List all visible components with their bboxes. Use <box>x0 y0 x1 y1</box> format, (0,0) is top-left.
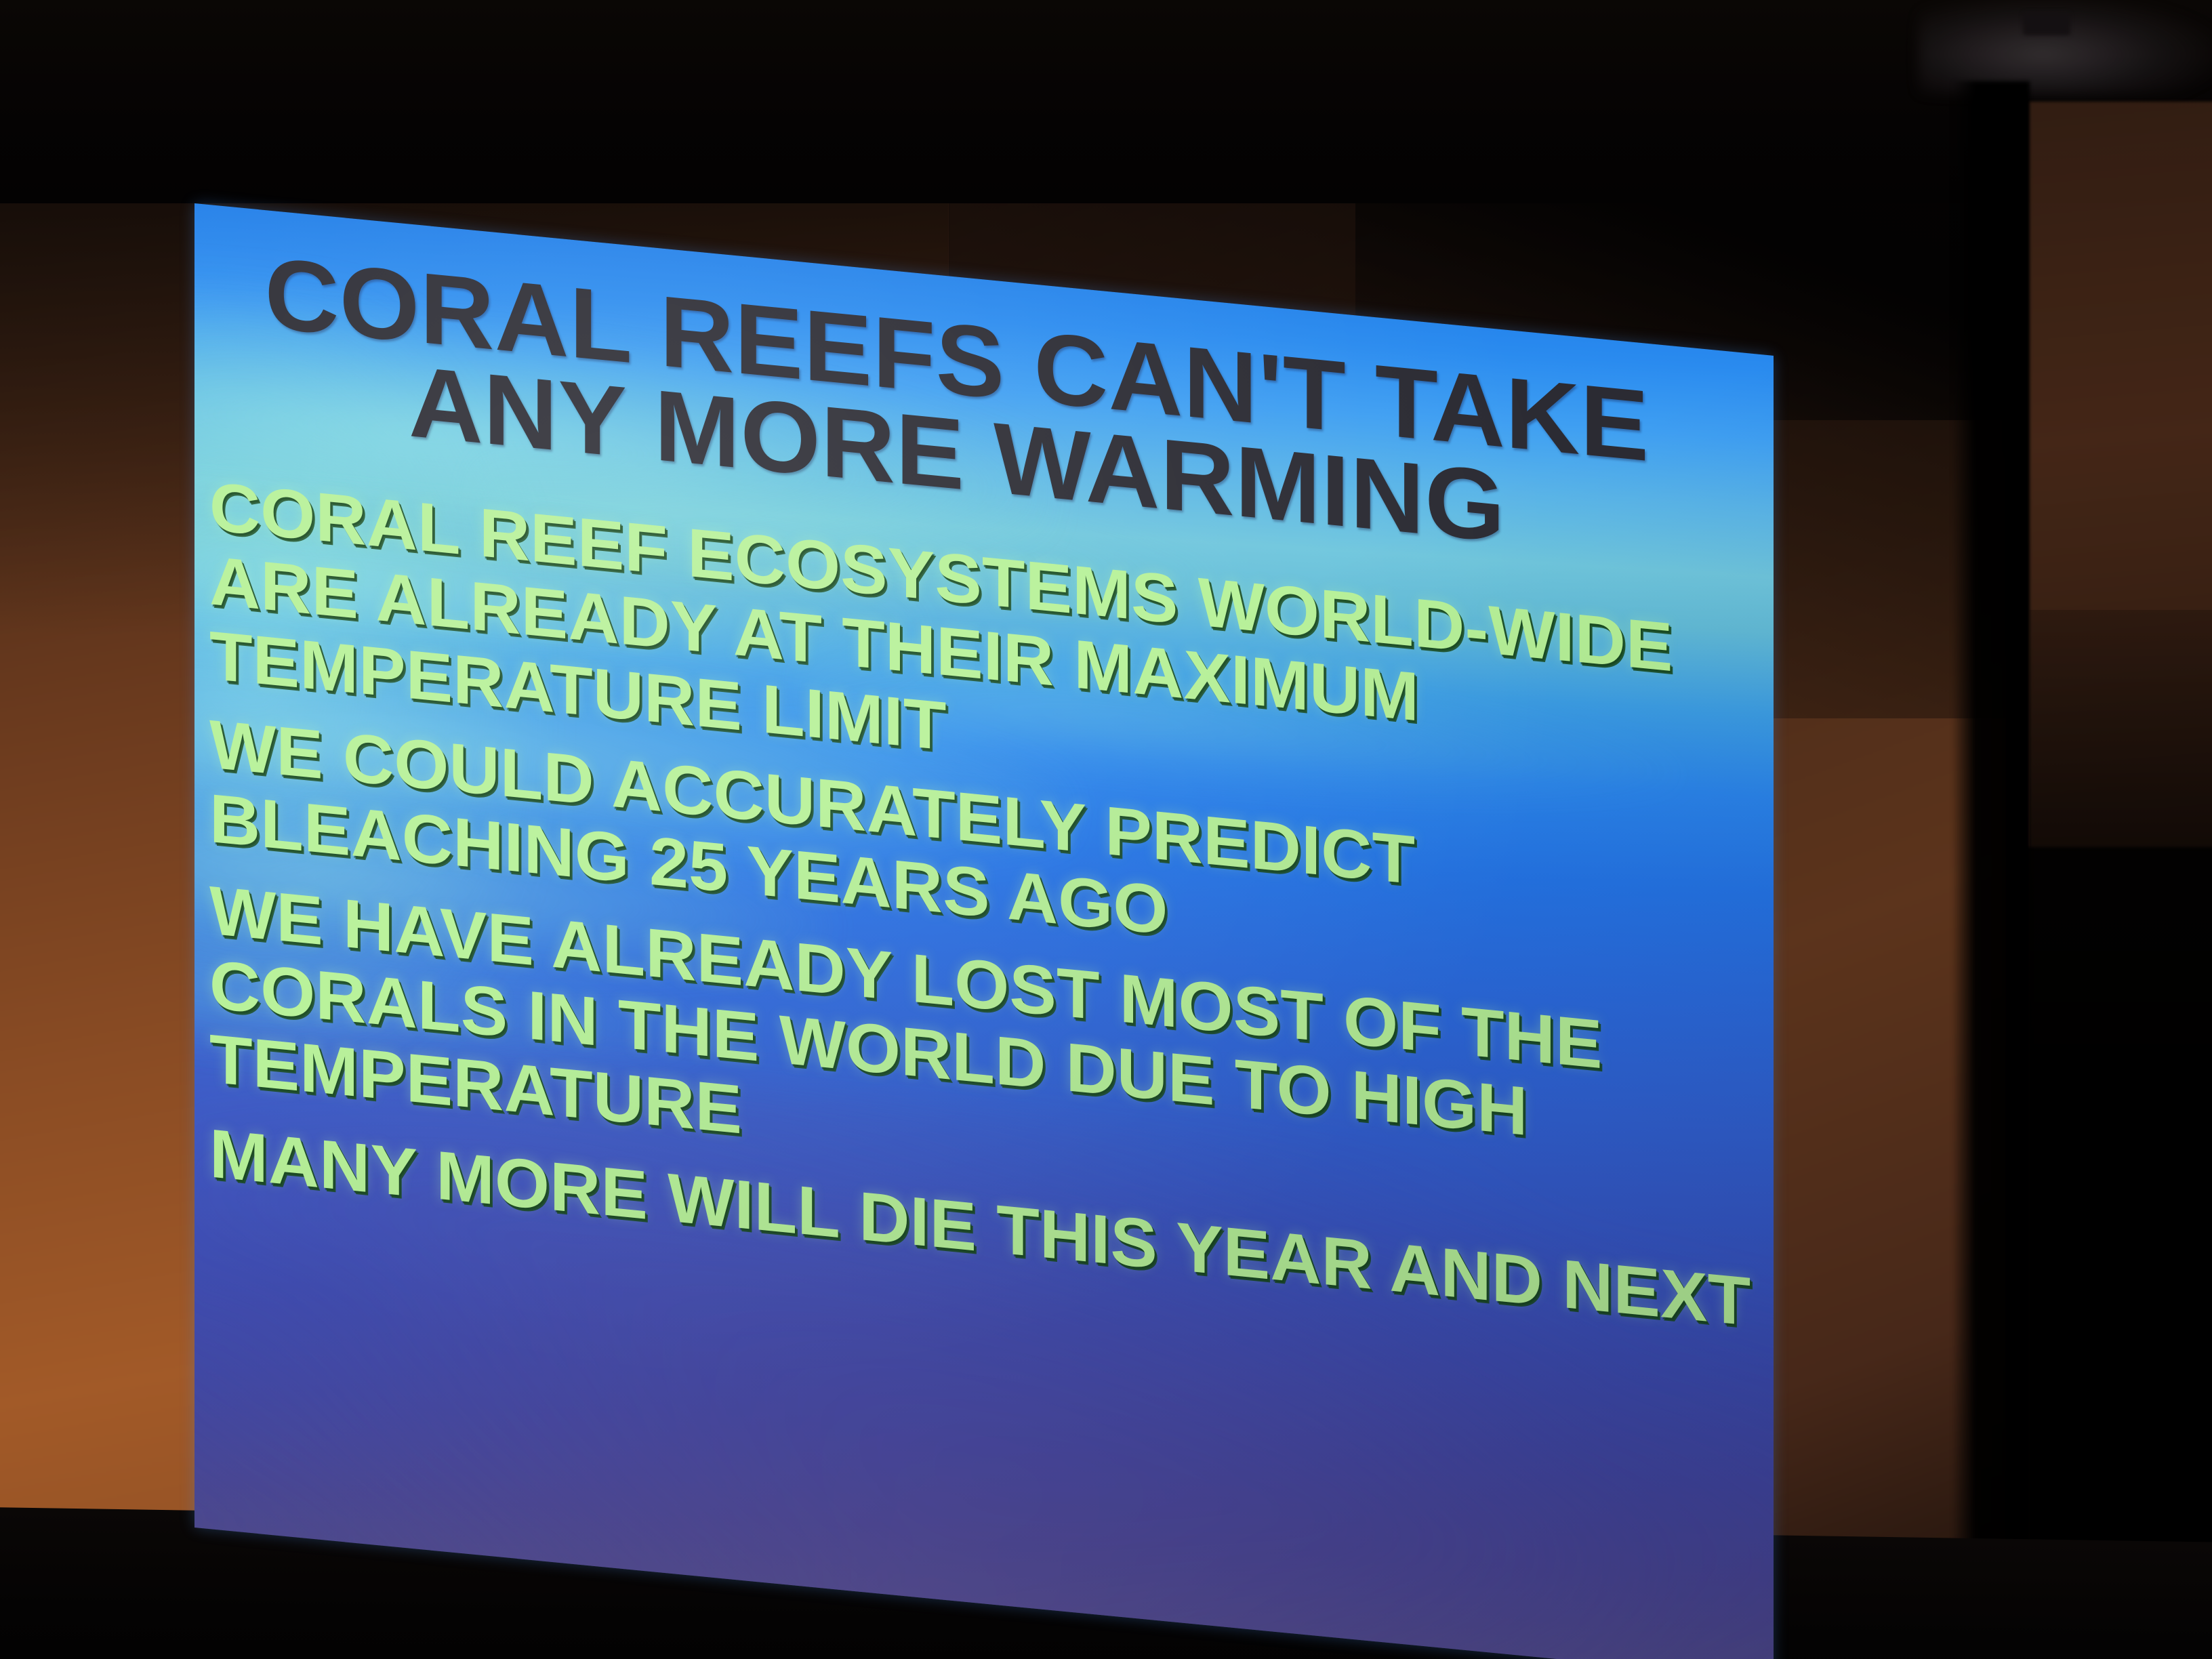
ceiling <box>0 0 2212 203</box>
ceiling-light-core-icon <box>2023 12 2070 35</box>
wall-seam <box>1952 81 2030 1659</box>
slide-content: CORAL REEFS CAN'T TAKE ANY MORE WARMING … <box>194 203 1774 1659</box>
far-right-wall-shadow <box>2030 610 2212 1659</box>
projection-screen: CORAL REEFS CAN'T TAKE ANY MORE WARMING … <box>194 203 1774 1659</box>
slide-bullet-list: CORAL REEF ECOSYSTEMS WORLD-WIDE ARE ALR… <box>209 470 1755 1353</box>
presentation-slide: CORAL REEFS CAN'T TAKE ANY MORE WARMING … <box>194 203 1774 1659</box>
conference-room-scene: CORAL REEFS CAN'T TAKE ANY MORE WARMING … <box>0 0 2212 1659</box>
